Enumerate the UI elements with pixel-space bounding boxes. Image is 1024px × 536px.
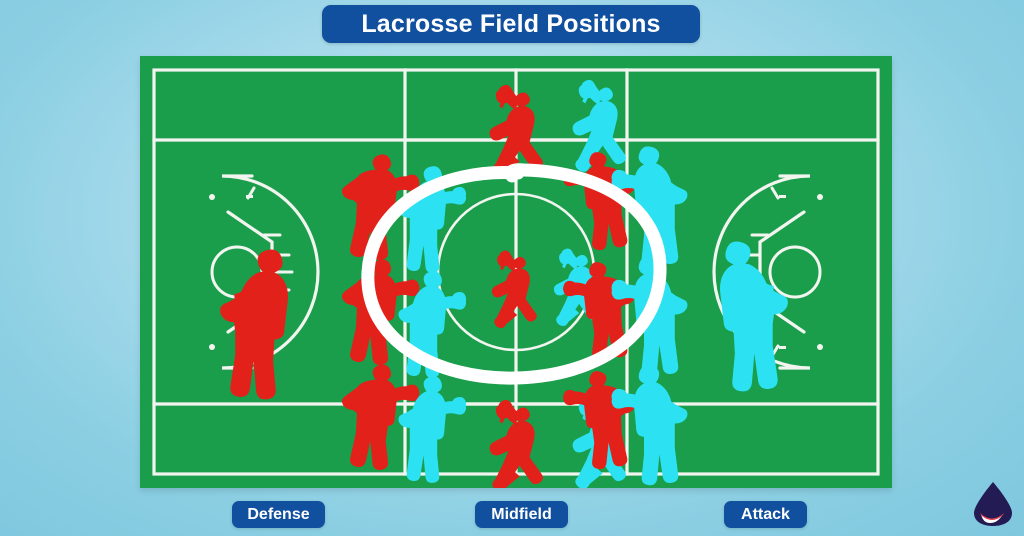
right-field-dots xyxy=(779,194,823,350)
zone-label-midfield-text: Midfield xyxy=(491,507,551,523)
page-title-badge: Lacrosse Field Positions xyxy=(322,5,700,43)
cyan-midfielder-3 xyxy=(612,365,688,485)
droplet-logo xyxy=(972,480,1014,528)
zone-label-attack-text: Attack xyxy=(741,507,790,523)
cyan-goalie xyxy=(720,242,788,392)
page-title: Lacrosse Field Positions xyxy=(361,12,660,37)
zone-label-midfield: Midfield xyxy=(475,501,568,528)
zone-label-defense-text: Defense xyxy=(247,507,309,523)
red-midfielder-3 xyxy=(563,371,635,469)
red-wing-top xyxy=(490,85,543,177)
zone-label-defense: Defense xyxy=(232,501,325,528)
red-wing-bottom xyxy=(490,400,543,488)
red-center xyxy=(492,251,537,328)
screenshot-stage: Lacrosse Field Positions xyxy=(0,0,1024,536)
zone-label-attack: Attack xyxy=(724,501,807,528)
lacrosse-field xyxy=(140,56,892,488)
